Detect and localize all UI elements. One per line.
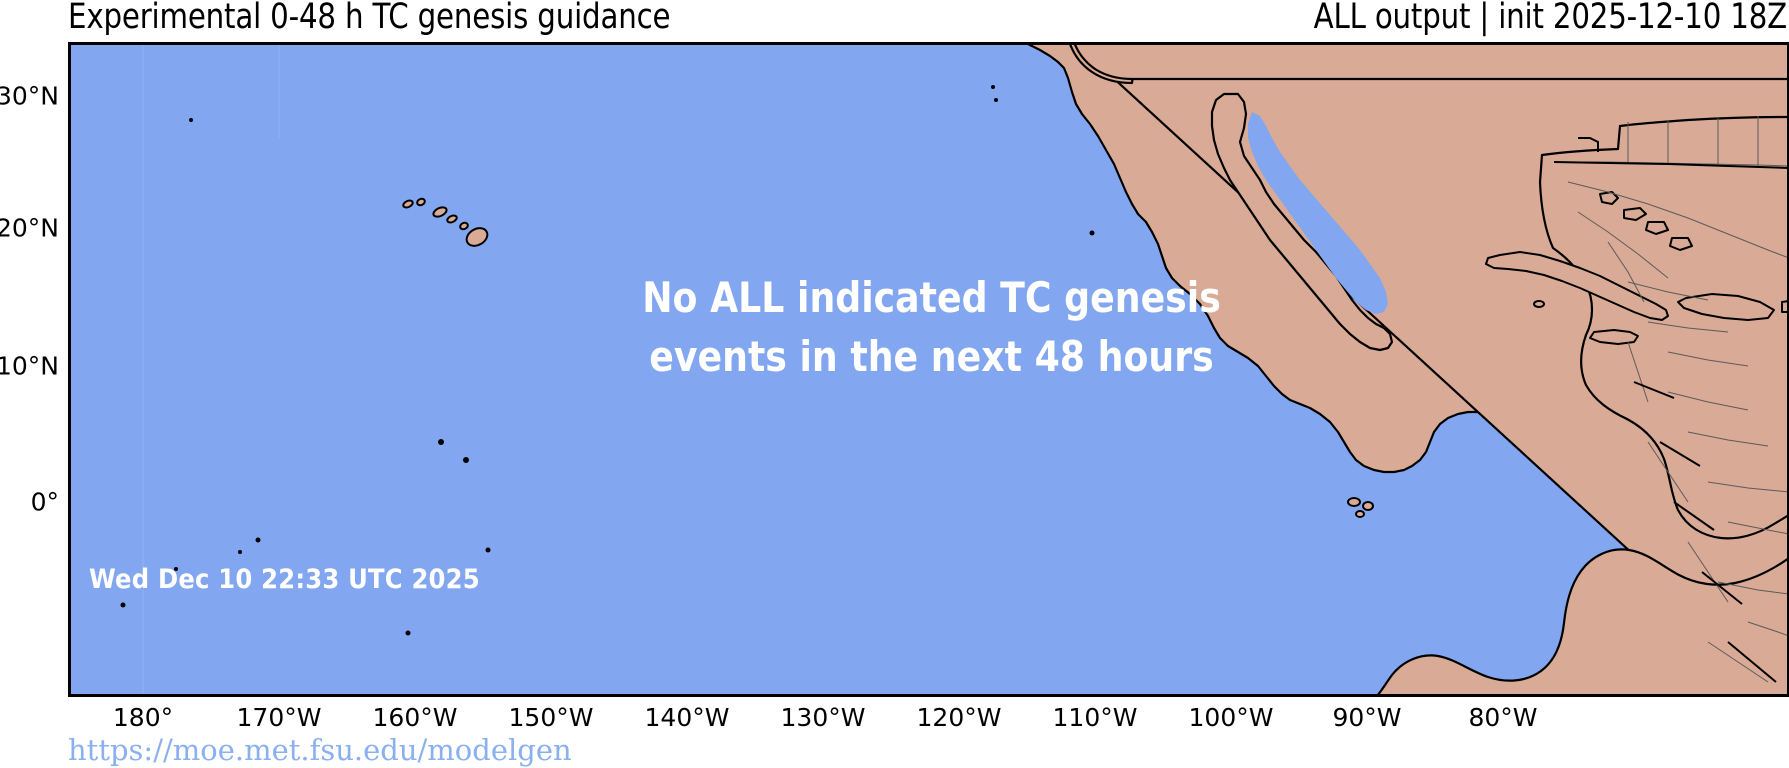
x-tick-label: 140°W [645,703,730,732]
x-tick-label: 170°W [237,703,322,732]
x-tick-label: 100°W [1189,703,1274,732]
x-tick-label: 130°W [781,703,866,732]
tc-genesis-guidance-page: Experimental 0-48 h TC genesis guidance … [0,0,1789,768]
isle-dot [256,538,261,543]
isle-dot [121,603,126,608]
header-run-info: ALL output | init 2025-12-10 18Z [1314,0,1787,37]
plot-timestamp: Wed Dec 10 22:33 UTC 2025 [89,564,480,595]
isle-dot [438,439,444,445]
isle-dot [486,548,491,553]
basemap-svg: .land { fill:#d9ab96; stroke:#000; strok… [68,42,1789,697]
x-tick-label: 80°W [1468,703,1537,732]
isle-dot [1090,231,1095,236]
isle-dot [238,550,242,554]
x-tick-label: 110°W [1053,703,1138,732]
isle-dot [994,98,998,102]
x-tick-label: 120°W [917,703,1002,732]
x-tick-label: 180° [113,703,173,732]
header: Experimental 0-48 h TC genesis guidance … [0,0,1789,42]
x-tick-label: 160°W [373,703,458,732]
page-title: Experimental 0-48 h TC genesis guidance [68,0,670,37]
y-tick-label: 0° [31,488,59,517]
source-url-link[interactable]: https://moe.met.fsu.edu/modelgen [68,733,572,767]
isle-dot [991,85,995,89]
y-tick-label: 10°N [0,352,59,381]
isle-dot [189,118,193,122]
y-tick-label: 30°N [0,82,59,111]
map-canvas[interactable]: .land { fill:#d9ab96; stroke:#000; strok… [68,42,1789,697]
isle-dot [463,457,469,463]
x-tick-label: 90°W [1332,703,1401,732]
y-tick-label: 20°N [0,214,59,243]
isle-dot [406,631,411,636]
x-tick-label: 150°W [509,703,594,732]
